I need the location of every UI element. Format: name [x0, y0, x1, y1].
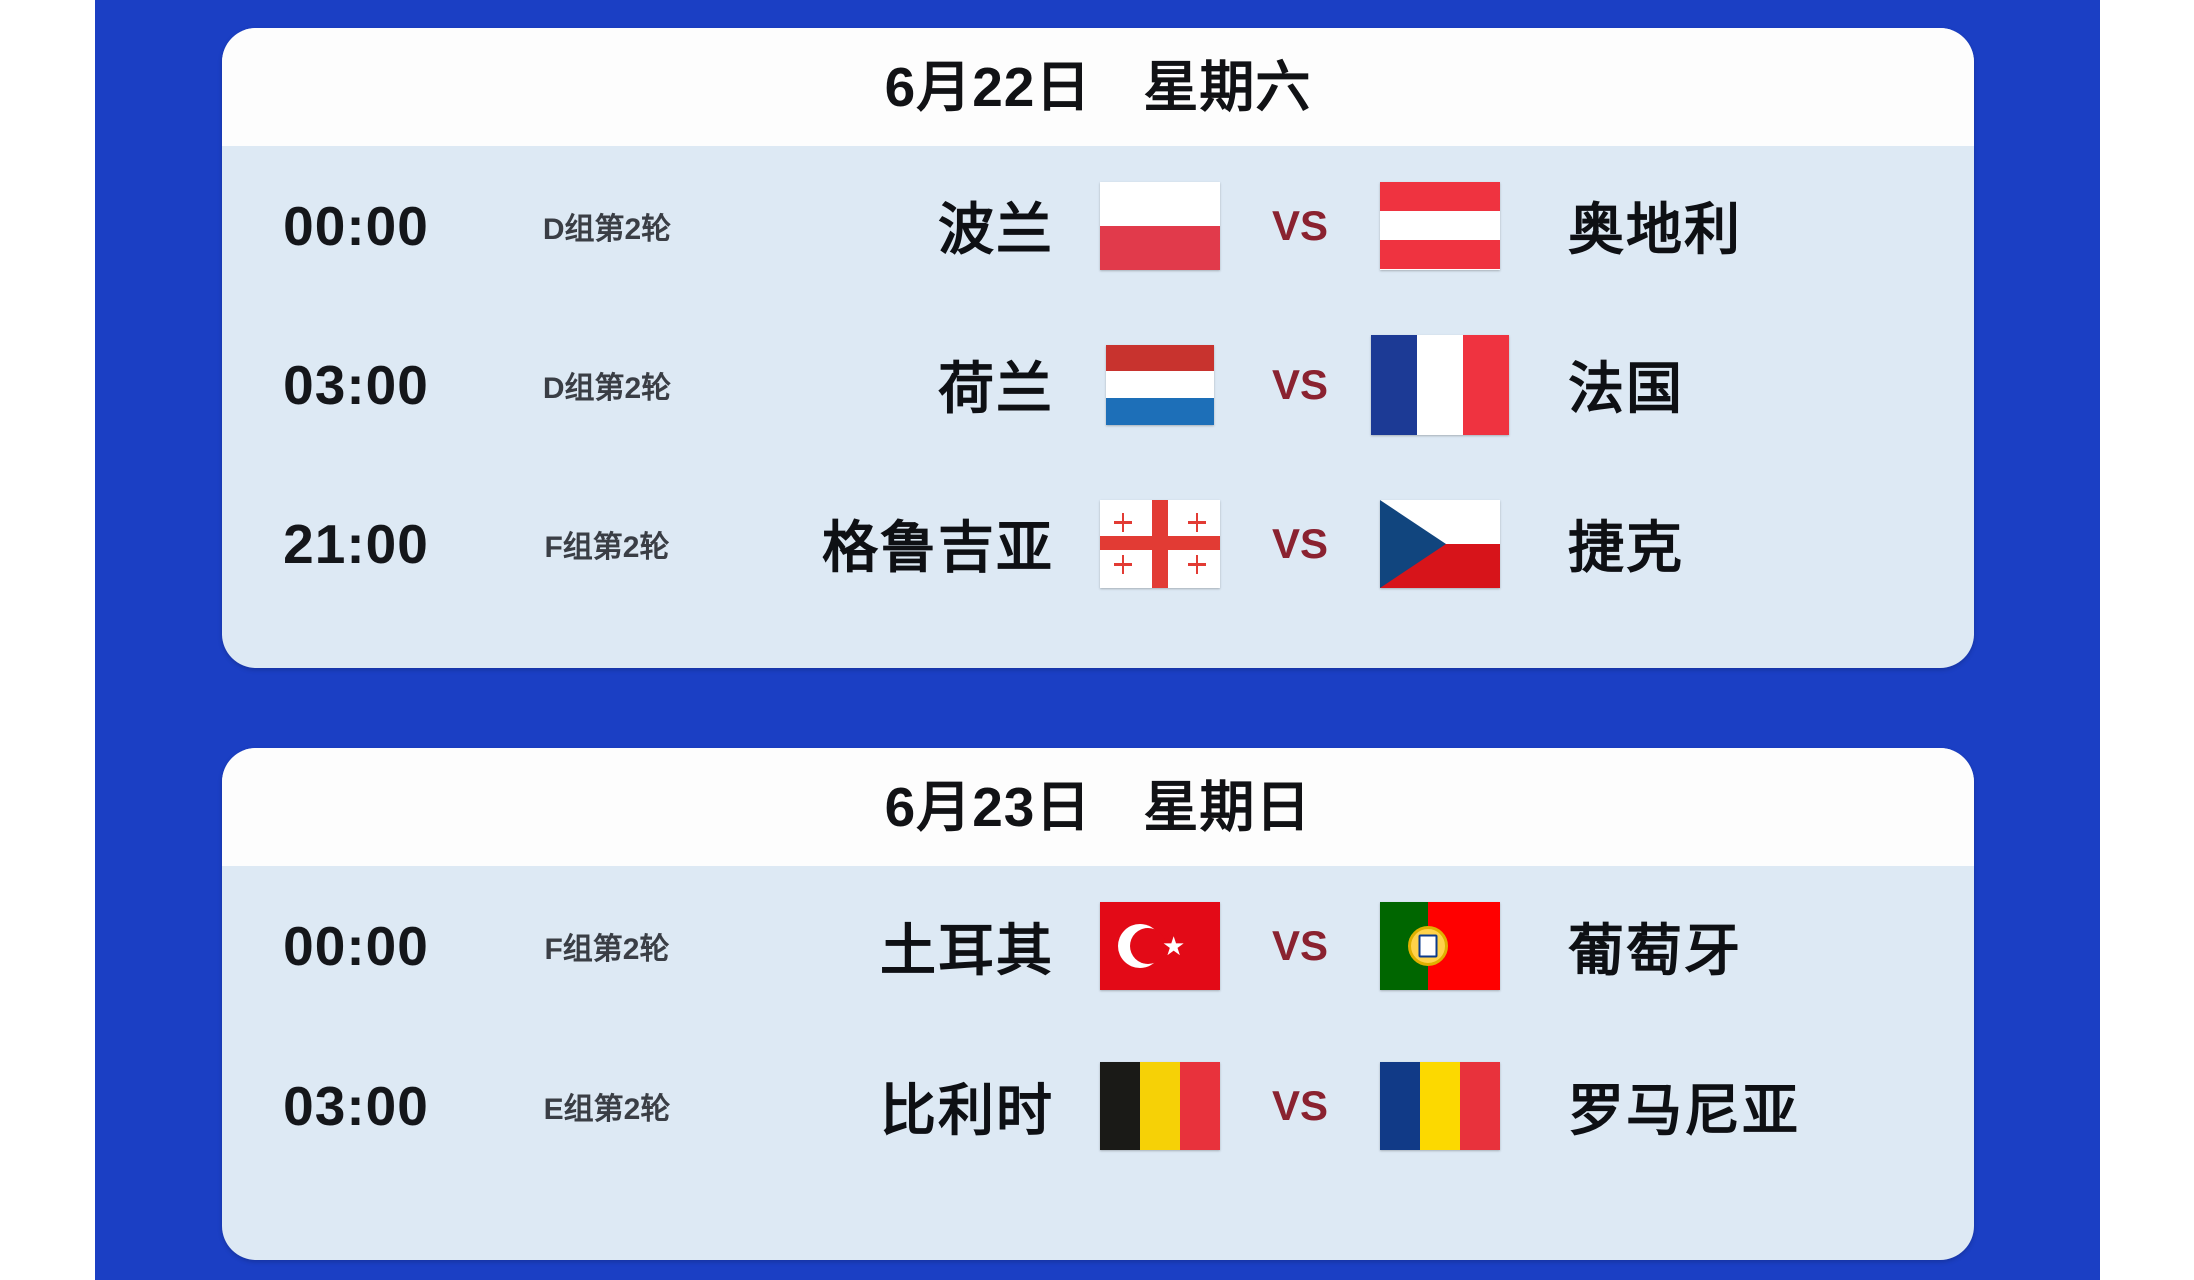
- match-row[interactable]: 03:00 E组第2轮 比利时 VS: [222, 1026, 1974, 1186]
- match-stage: D组第2轮: [490, 204, 724, 248]
- home-team-name: 土耳其: [724, 906, 1072, 987]
- france-flag: [1371, 335, 1509, 435]
- portugal-flag: [1380, 902, 1500, 990]
- home-flag-cell: ★: [1072, 902, 1248, 990]
- vs-label: VS: [1248, 202, 1352, 250]
- match-row[interactable]: 00:00 F组第2轮 土耳其 ★ VS 葡萄牙: [222, 866, 1974, 1026]
- match-time: 03:00: [222, 1074, 490, 1138]
- schedule-page: 6月22日 星期六 00:00 D组第2轮 波兰 VS: [0, 0, 2194, 1280]
- match-row[interactable]: 00:00 D组第2轮 波兰 VS: [222, 146, 1974, 305]
- away-flag-cell: [1352, 902, 1528, 990]
- romania-flag: [1380, 1062, 1500, 1150]
- card-body-day-1: 00:00 D组第2轮 波兰 VS: [222, 146, 1974, 623]
- vs-label: VS: [1248, 1082, 1352, 1130]
- austria-flag: [1380, 182, 1500, 270]
- away-flag-cell: [1352, 1062, 1528, 1150]
- home-team-name: 比利时: [724, 1066, 1072, 1147]
- czech-republic-flag: [1380, 500, 1500, 588]
- match-time: 00:00: [222, 914, 490, 978]
- home-team-name: 波兰: [724, 185, 1072, 266]
- vs-label: VS: [1248, 922, 1352, 970]
- vs-label: VS: [1248, 520, 1352, 568]
- match-row[interactable]: 03:00 D组第2轮 荷兰 VS 法国: [222, 305, 1974, 464]
- header-date: 6月23日: [885, 780, 1092, 835]
- away-team-name: 葡萄牙: [1528, 906, 1974, 987]
- match-stage: D组第2轮: [490, 363, 724, 407]
- away-team-name: 奥地利: [1528, 185, 1974, 266]
- away-flag-cell: [1352, 335, 1528, 435]
- belgium-flag: [1100, 1062, 1220, 1150]
- home-team-name: 荷兰: [724, 344, 1072, 425]
- match-row[interactable]: 21:00 F组第2轮 格鲁吉亚 VS: [222, 464, 1974, 623]
- away-flag-cell: [1352, 182, 1528, 270]
- vs-label: VS: [1248, 361, 1352, 409]
- header-weekday: 星期六: [1143, 60, 1311, 115]
- header-weekday: 星期日: [1143, 780, 1311, 835]
- netherlands-flag: [1106, 345, 1214, 425]
- poland-flag: [1100, 182, 1220, 270]
- away-team-name: 捷克: [1528, 503, 1974, 584]
- home-flag-cell: [1072, 500, 1248, 588]
- home-flag-cell: [1072, 182, 1248, 270]
- match-stage: E组第2轮: [490, 1084, 724, 1128]
- away-team-name: 法国: [1528, 344, 1974, 425]
- card-header-day-1: 6月22日 星期六: [222, 28, 1974, 146]
- home-team-name: 格鲁吉亚: [724, 503, 1072, 584]
- match-stage: F组第2轮: [490, 522, 724, 566]
- match-time: 21:00: [222, 512, 490, 576]
- away-flag-cell: [1352, 500, 1528, 588]
- card-body-day-2: 00:00 F组第2轮 土耳其 ★ VS 葡萄牙 03:00: [222, 866, 1974, 1186]
- home-flag-cell: [1072, 1062, 1248, 1150]
- match-time: 03:00: [222, 353, 490, 417]
- home-flag-cell: [1072, 345, 1248, 425]
- card-header-day-2: 6月23日 星期日: [222, 748, 1974, 866]
- match-time: 00:00: [222, 194, 490, 258]
- georgia-flag: [1100, 500, 1220, 588]
- away-team-name: 罗马尼亚: [1528, 1066, 1974, 1147]
- header-date: 6月22日: [885, 60, 1092, 115]
- schedule-card-day-2: 6月23日 星期日 00:00 F组第2轮 土耳其 ★ VS: [222, 748, 1974, 1260]
- match-stage: F组第2轮: [490, 924, 724, 968]
- turkey-flag: ★: [1100, 902, 1220, 990]
- schedule-card-day-1: 6月22日 星期六 00:00 D组第2轮 波兰 VS: [222, 28, 1974, 668]
